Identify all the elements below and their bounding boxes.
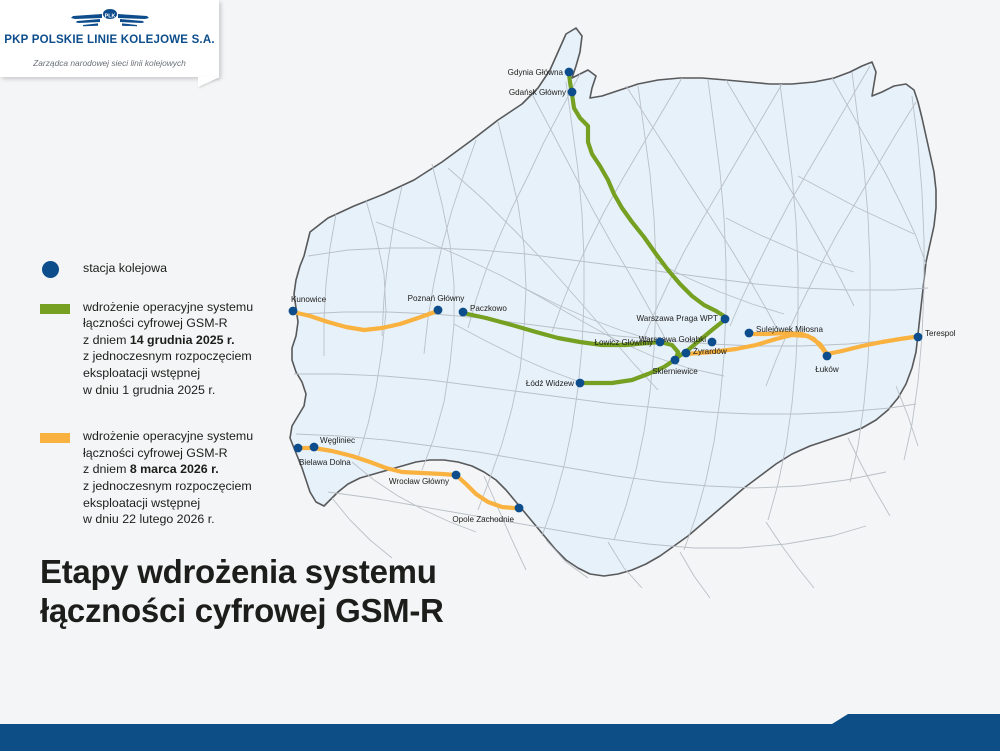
station-dot[interactable]	[568, 88, 577, 97]
station-label: Gdynia Główna	[508, 68, 564, 77]
station-label: Żyrardów	[693, 347, 727, 356]
station-dot[interactable]	[823, 352, 832, 361]
poland-map: Gdynia GłównaGdańsk GłównyKunowicePoznań…	[236, 22, 1000, 682]
station-dot[interactable]	[515, 504, 524, 513]
brand-name: PKP POLSKIE LINIE KOLEJOWE S.A.	[0, 34, 219, 46]
station-label: Gdańsk Główny	[509, 88, 567, 97]
station-dot[interactable]	[656, 338, 665, 347]
station-dot[interactable]	[565, 68, 574, 77]
footer-bar	[0, 714, 1000, 751]
station-label: Łowicz Głównny	[595, 338, 654, 347]
station-label: Poznań Główny	[408, 294, 466, 303]
station-dot[interactable]	[310, 443, 319, 452]
station-dot[interactable]	[459, 308, 468, 317]
station-label: Wrocław Główny	[389, 477, 450, 486]
station-dot[interactable]	[682, 349, 691, 358]
brand-tagline: Zarządca narodowej sieci linii kolejowyc…	[0, 58, 219, 68]
station-label: Terespol	[925, 329, 956, 338]
pkp-winged-wheel-icon: PLK	[69, 8, 151, 33]
station-dot[interactable]	[452, 471, 461, 480]
legend-stage2-date: 8 marca 2026 r.	[130, 462, 219, 476]
infographic-page: PLK PKP POLSKIE LINIE KOLEJOWE S.A. Zarz…	[0, 0, 1000, 751]
station-dot[interactable]	[576, 379, 585, 388]
station-label: Łuków	[815, 365, 839, 374]
station-dot[interactable]	[721, 315, 730, 324]
station-dot[interactable]	[708, 338, 717, 347]
svg-text:PLK: PLK	[104, 14, 115, 20]
station-dot[interactable]	[289, 307, 298, 316]
station-dot-swatch	[42, 261, 59, 278]
station-label: Paczkowo	[470, 304, 507, 313]
station-label: Sulejówek Miłosna	[756, 325, 824, 334]
station-label: Skierniewice	[652, 367, 698, 376]
stage2-line-swatch	[40, 433, 70, 443]
country-outline	[290, 28, 936, 576]
station-dot[interactable]	[294, 444, 303, 453]
station-label: Łódź Widzew	[526, 379, 574, 388]
card-fold-corner	[198, 77, 220, 87]
legend-stage1-date: 14 grudnia 2025 r.	[130, 333, 235, 347]
station-label: Opole Zachodnie	[452, 515, 514, 524]
station-dot[interactable]	[914, 333, 923, 342]
station-label: Węgliniec	[320, 436, 355, 445]
station-dot[interactable]	[671, 356, 680, 365]
station-dot[interactable]	[745, 329, 754, 338]
stage1-line-swatch	[40, 304, 70, 314]
station-label: Kunowice	[291, 295, 327, 304]
station-dot[interactable]	[434, 306, 443, 315]
station-label: Bielawa Dolna	[299, 458, 351, 467]
station-label: Warszawa Praga WPT	[636, 314, 718, 323]
brand-logo-card: PLK PKP POLSKIE LINIE KOLEJOWE S.A. Zarz…	[0, 0, 219, 77]
